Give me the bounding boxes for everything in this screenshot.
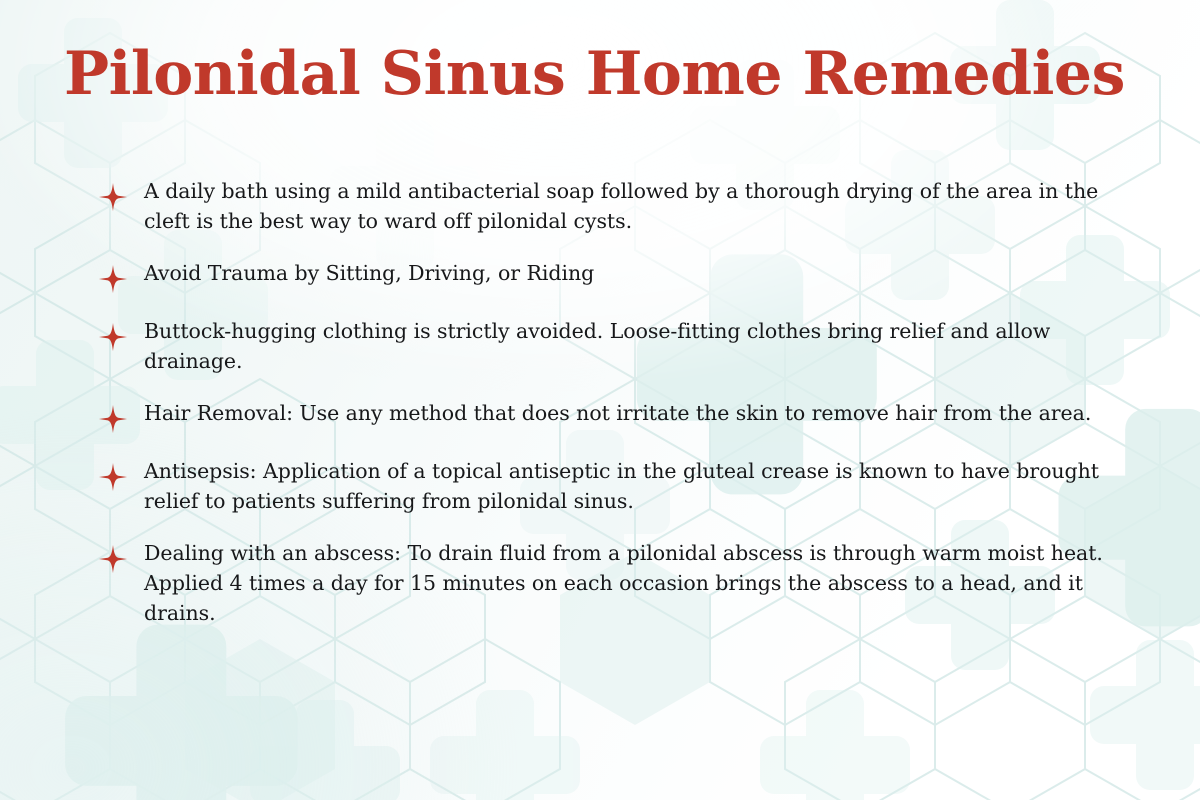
infographic-poster: Pilonidal Sinus Home Remedies A daily ba… [0, 0, 1200, 800]
four-pointed-star-icon [96, 182, 130, 212]
list-item: Dealing with an abscess: To drain fluid … [96, 538, 1156, 628]
page-title: Pilonidal Sinus Home Remedies [64, 42, 1154, 107]
four-pointed-star-icon [96, 544, 130, 574]
list-item: Buttock-hugging clothing is strictly avo… [96, 316, 1156, 376]
list-item: A daily bath using a mild antibacterial … [96, 176, 1156, 236]
four-pointed-star-icon [96, 462, 130, 492]
four-pointed-star-icon [96, 322, 130, 352]
title-container: Pilonidal Sinus Home Remedies [64, 42, 1154, 107]
remedy-text: Antisepsis: Application of a topical ant… [130, 456, 1144, 516]
list-item: Antisepsis: Application of a topical ant… [96, 456, 1156, 516]
remedy-text: Dealing with an abscess: To drain fluid … [130, 538, 1144, 628]
list-item: Hair Removal: Use any method that does n… [96, 398, 1156, 434]
four-pointed-star-icon [96, 264, 130, 294]
remedy-text: Hair Removal: Use any method that does n… [130, 398, 1144, 428]
four-pointed-star-icon [96, 404, 130, 434]
remedy-list: A daily bath using a mild antibacterial … [96, 176, 1156, 650]
remedy-text: Avoid Trauma by Sitting, Driving, or Rid… [130, 258, 1144, 288]
remedy-text: A daily bath using a mild antibacterial … [130, 176, 1144, 236]
remedy-text: Buttock-hugging clothing is strictly avo… [130, 316, 1144, 376]
list-item: Avoid Trauma by Sitting, Driving, or Rid… [96, 258, 1156, 294]
